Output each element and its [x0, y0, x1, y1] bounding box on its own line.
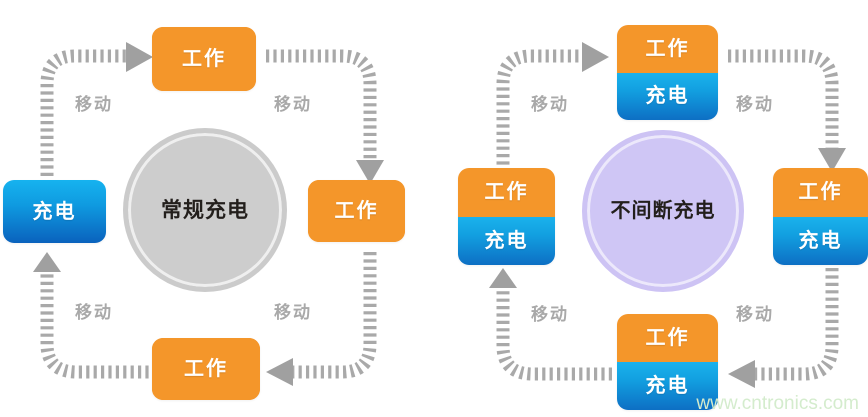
node-top-work[interactable]: 工作 — [152, 27, 256, 91]
node-segment-work: 工作 — [458, 168, 555, 217]
node-right-work-charge[interactable]: 工作 充电 — [773, 168, 868, 265]
node-segment-work: 工作 — [617, 25, 718, 73]
hub-conventional: 常规充电 — [123, 128, 287, 292]
node-segment-work: 工作 — [308, 180, 405, 242]
node-segment-work: 工作 — [152, 27, 256, 91]
transition-label-left-to-top: 移动 — [75, 96, 113, 113]
transition-label-right-to-bottom: 移动 — [736, 306, 774, 323]
hub-label: 不间断充电 — [611, 201, 716, 221]
diagram-canvas: 常规充电 工作 工作 工作 充电 移动 移动 移动 移动 — [0, 0, 868, 417]
hub-uninterrupted: 不间断充电 — [582, 130, 744, 292]
node-segment-work: 工作 — [773, 168, 868, 217]
panel-conventional-charging: 常规充电 工作 工作 工作 充电 移动 移动 移动 移动 — [0, 0, 434, 417]
node-right-work[interactable]: 工作 — [308, 180, 405, 242]
node-bottom-work[interactable]: 工作 — [152, 338, 260, 400]
watermark: www.cntronics.com — [696, 393, 859, 415]
transition-label-top-to-right: 移动 — [274, 96, 312, 113]
node-left-work-charge[interactable]: 工作 充电 — [458, 168, 555, 265]
hub-label: 常规充电 — [161, 200, 249, 221]
transition-label-bottom-to-left: 移动 — [75, 304, 113, 321]
node-segment-work: 工作 — [617, 314, 718, 362]
node-segment-charge: 充电 — [617, 73, 718, 121]
panel-uninterrupted-charging: 不间断充电 工作 充电 工作 充电 工作 充电 工作 充电 移动 移动 移动 移… — [434, 0, 868, 417]
node-segment-charge: 充电 — [773, 217, 868, 266]
node-segment-work: 工作 — [152, 338, 260, 400]
transition-label-top-to-right: 移动 — [736, 96, 774, 113]
node-left-charge[interactable]: 充电 — [3, 180, 106, 243]
transition-label-bottom-to-left: 移动 — [531, 306, 569, 323]
arrow-bottom-to-left — [489, 268, 614, 398]
node-segment-charge: 充电 — [3, 180, 106, 243]
node-segment-charge: 充电 — [458, 217, 555, 266]
node-top-work-charge[interactable]: 工作 充电 — [617, 25, 718, 120]
transition-label-right-to-bottom: 移动 — [274, 304, 312, 321]
arrow-right-to-bottom — [726, 268, 851, 398]
arrow-bottom-to-left — [33, 252, 158, 392]
arrow-right-to-bottom — [264, 252, 389, 392]
transition-label-left-to-top: 移动 — [531, 96, 569, 113]
